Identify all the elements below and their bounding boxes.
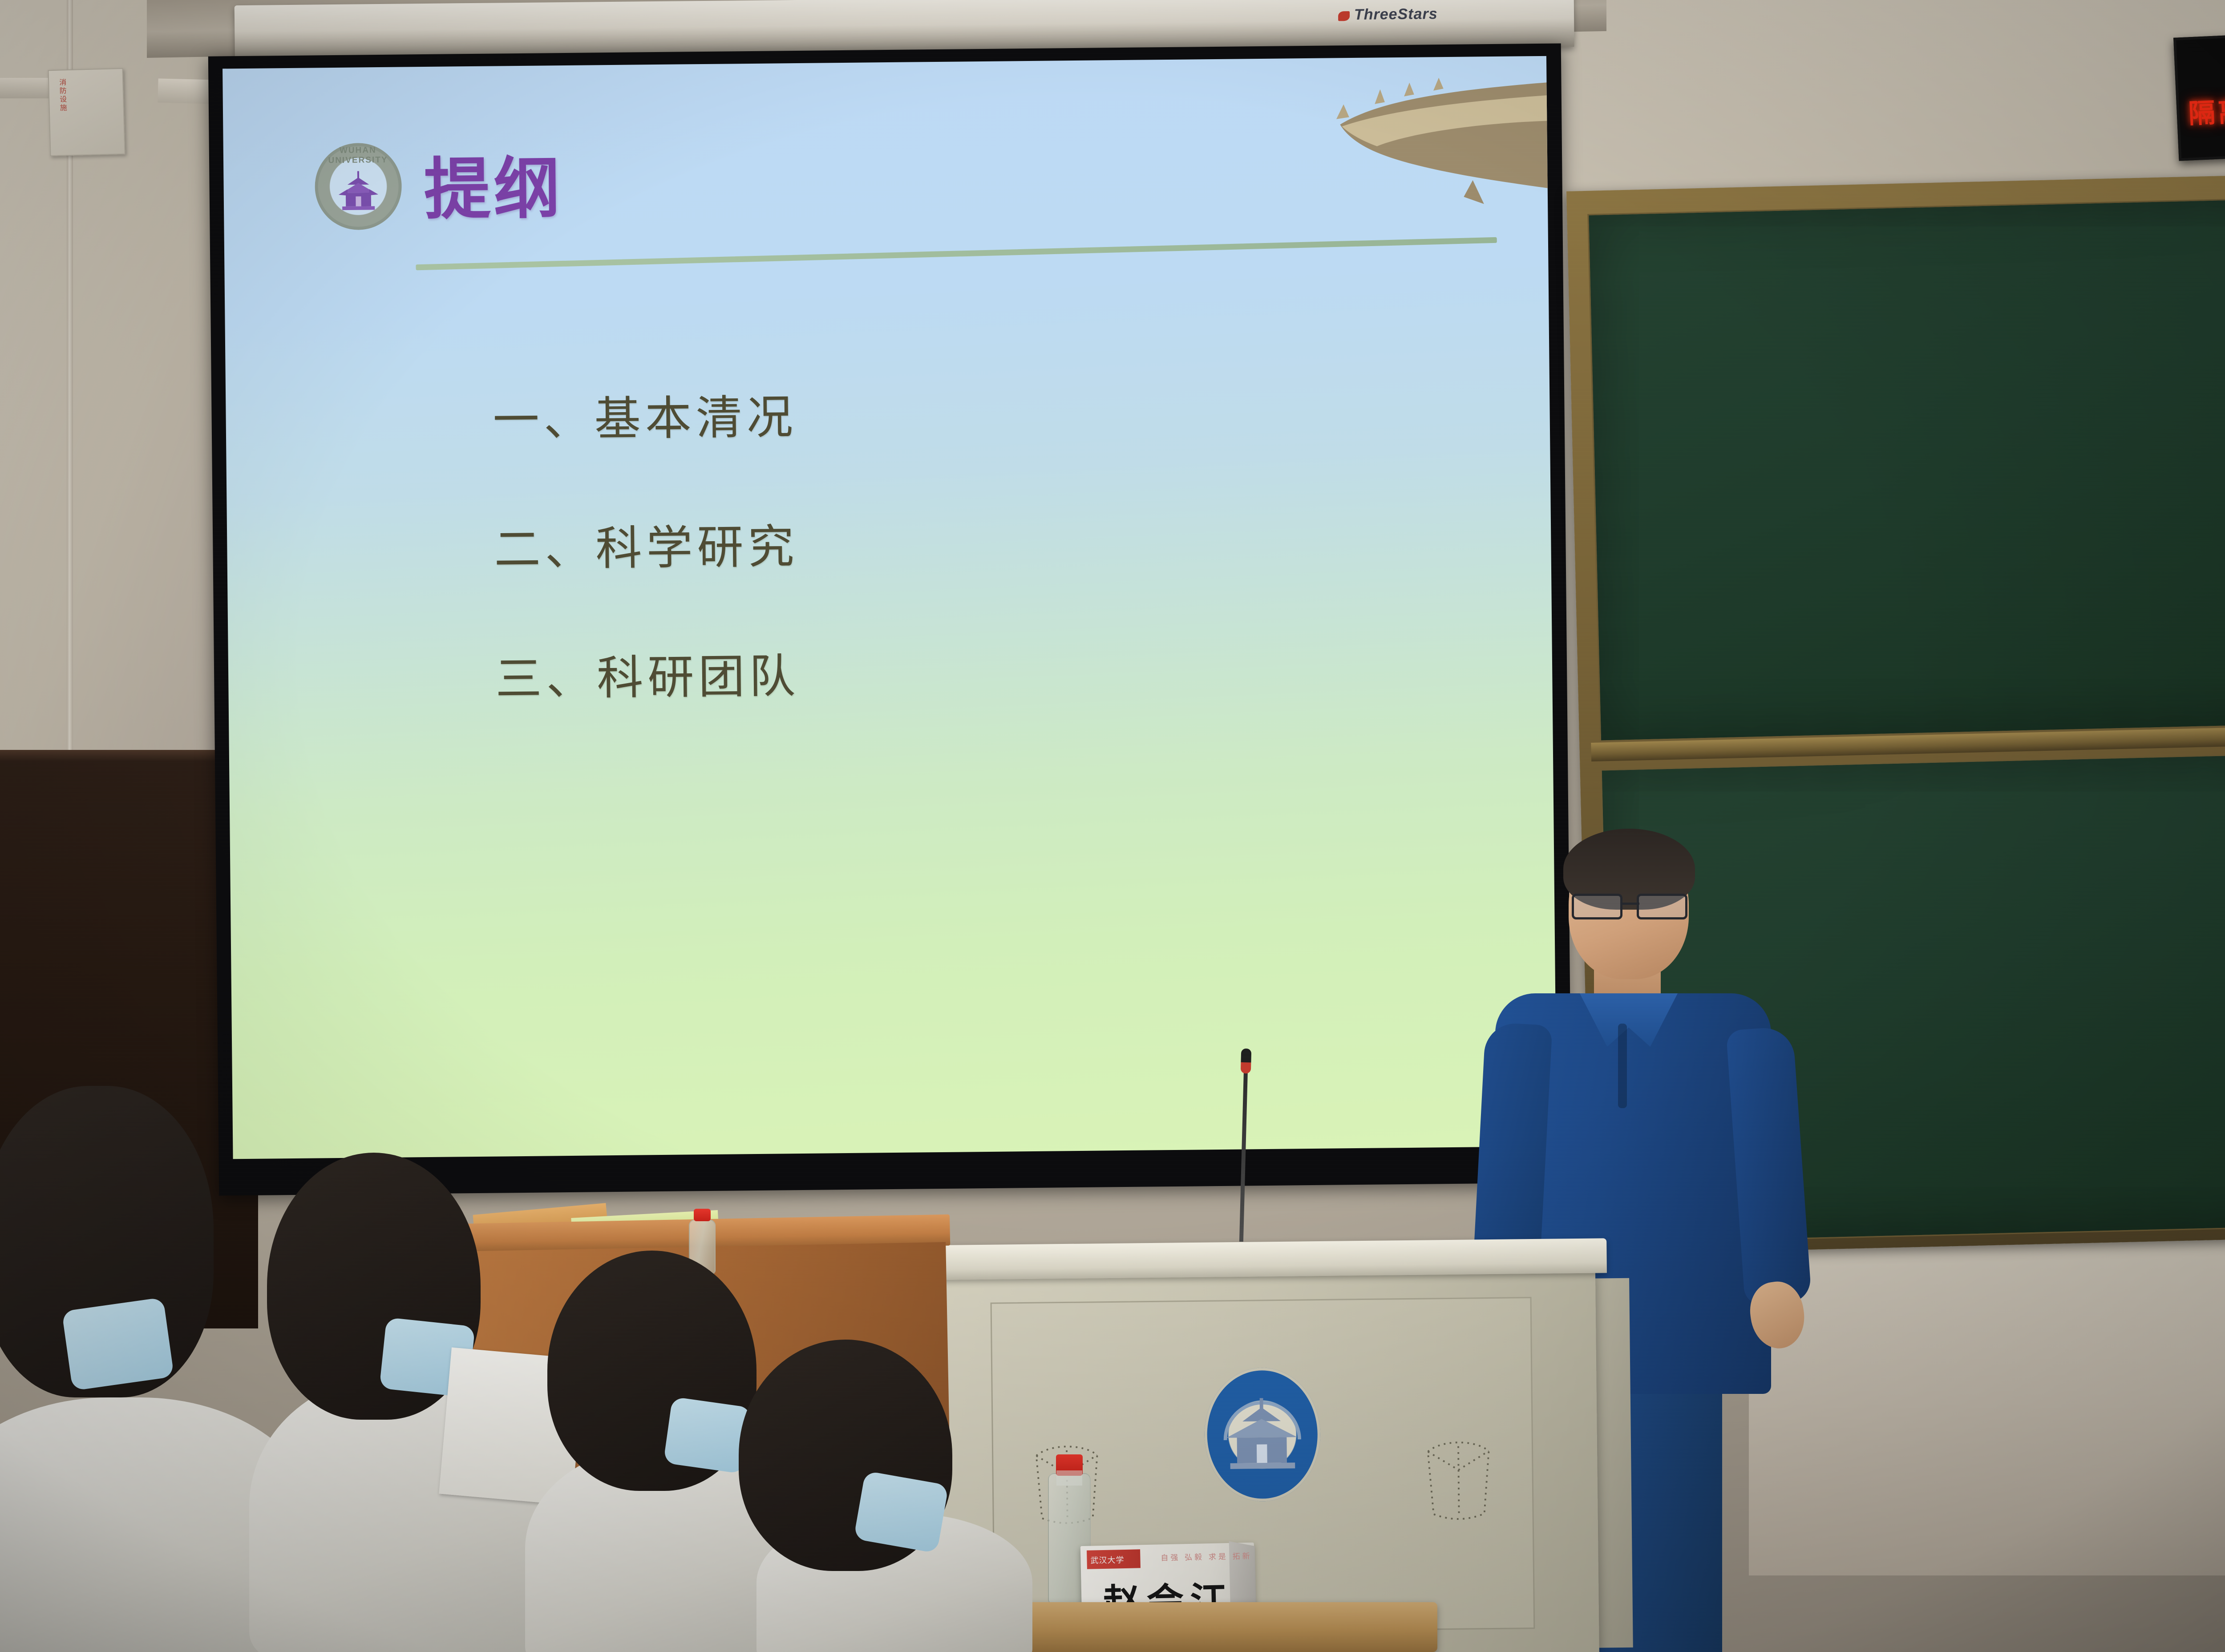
placard-ribbon: 武汉大学 — [1087, 1549, 1141, 1569]
slide-bullet-1: 一、基本清况 — [493, 379, 797, 449]
slide-bullet-2: 二、科学研究 — [494, 509, 799, 579]
presenter-shirt-placket — [1618, 1024, 1627, 1108]
podium-university-emblem-icon — [1204, 1367, 1321, 1502]
projection-screen: ThreeStars WUHAN UNIVERSITY — [208, 11, 1577, 1226]
wall-box-label: 消防设施 — [56, 78, 68, 113]
placard-motto: 自强 弘毅 求是 拓新 — [1161, 1550, 1252, 1563]
glasses-lens-left — [1572, 894, 1622, 919]
presentation-slide: WUHAN UNIVERSITY 提纲 — [222, 56, 1557, 1159]
slide-bullet-list: 一、基本清况 二、科学研究 三、科研团队 — [493, 379, 801, 771]
glasses-icon — [1570, 894, 1689, 915]
wuhan-university-logo-icon: WUHAN UNIVERSITY — [315, 143, 402, 231]
screen-frame: WUHAN UNIVERSITY 提纲 — [208, 44, 1572, 1196]
glasses-bridge — [1622, 903, 1639, 905]
wall-equipment-box: 消防设施 — [48, 68, 125, 156]
brand-mark-icon — [1338, 11, 1350, 21]
pagoda-icon — [334, 169, 383, 214]
podium-pagoda-icon — [1204, 1367, 1321, 1502]
paper-line-1 — [455, 1374, 472, 1386]
projector-brand-logo: ThreeStars — [1338, 5, 1438, 24]
podium — [930, 1238, 1629, 1652]
audience-mask-1 — [62, 1297, 174, 1391]
led-notice-text: 隔离开 入座扫码 — [2188, 83, 2225, 131]
slide-title-underline — [416, 237, 1497, 270]
placard-ribbon-text: 武汉大学 — [1090, 1554, 1125, 1566]
podium-speaker-grille-right-icon — [1416, 1432, 1501, 1526]
logo-ring-text: WUHAN UNIVERSITY — [315, 146, 401, 166]
bottle-cap-icon — [694, 1209, 711, 1221]
blackboard-panel-top — [1587, 194, 2225, 742]
brand-name: ThreeStars — [1354, 5, 1438, 23]
slide-bullet-3: 三、科研团队 — [495, 638, 800, 709]
podium-top-surface — [930, 1238, 1607, 1280]
roof-eave-decoration-icon — [1270, 69, 1557, 219]
led-notice-board: 15时05分 隔离开 入座扫码 — [2173, 24, 2225, 161]
slide-title: 提纲 — [424, 134, 563, 232]
right-wall-lower — [1749, 1228, 2225, 1575]
lecture-hall-photo: 消防设施 ThreeStars WUHAN UNIVERSITY — [0, 0, 2225, 1652]
glasses-lens-right — [1637, 894, 1687, 919]
audience-desk-3 — [1023, 1602, 1437, 1652]
bottle-neck — [1056, 1470, 1082, 1486]
audience-mask-4 — [854, 1471, 949, 1554]
podium-body — [937, 1270, 1599, 1652]
